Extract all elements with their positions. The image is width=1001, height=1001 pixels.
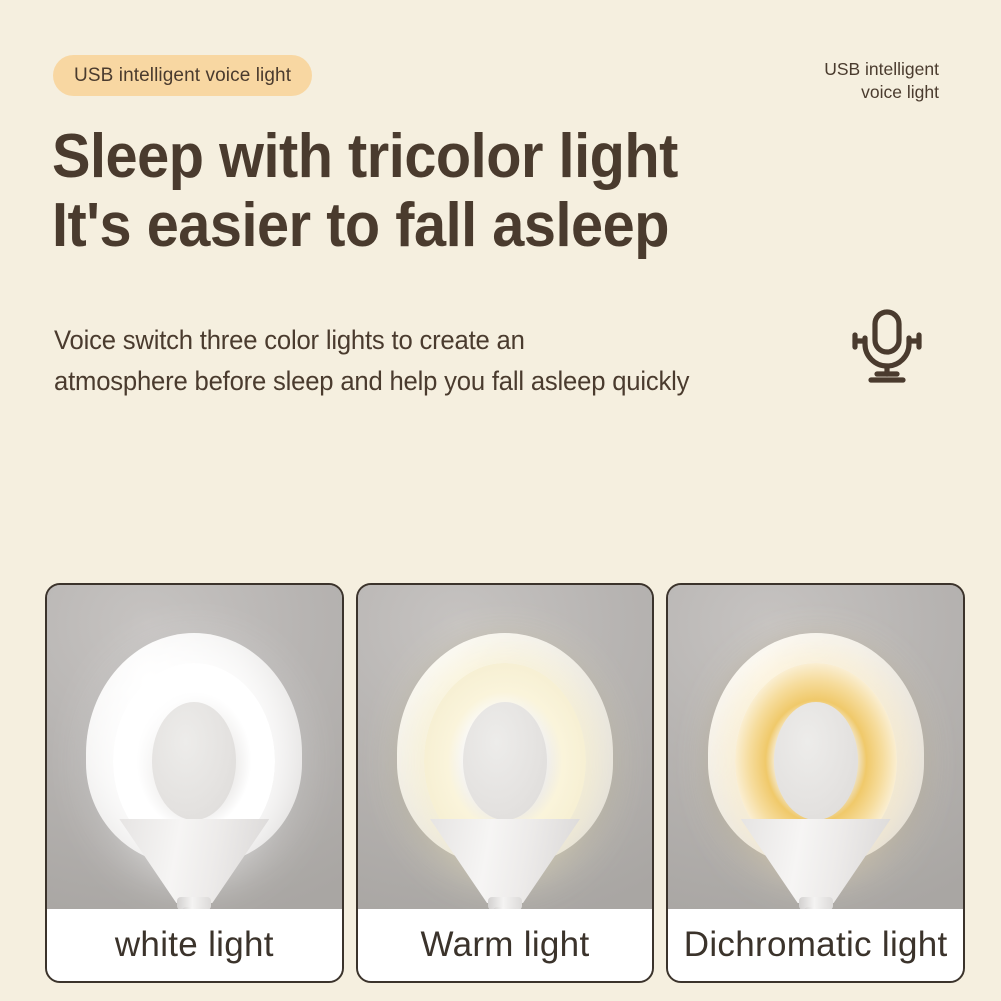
light-mode-card-white[interactable]: white light: [45, 583, 344, 983]
light-mode-card-dichromatic[interactable]: Dichromatic light: [666, 583, 965, 983]
lamp-neck: [741, 819, 891, 903]
lamp-neck: [119, 819, 269, 903]
headline-line-2: It's easier to fall asleep: [52, 191, 678, 260]
lamp-ring-inner: [152, 702, 236, 820]
product-photo-dichromatic: [668, 585, 963, 909]
subcopy: Voice switch three color lights to creat…: [54, 320, 689, 402]
ring-lamp-white-icon: [86, 633, 302, 909]
light-mode-cards: white light Warm light: [45, 583, 965, 983]
card-label-bar: white light: [47, 909, 342, 981]
headline-line-1: Sleep with tricolor light: [52, 122, 678, 191]
corner-note-line-2: voice light: [824, 81, 939, 104]
lamp-stem: [182, 907, 207, 909]
subcopy-line-1: Voice switch three color lights to creat…: [54, 320, 689, 361]
product-photo-warm: [358, 585, 653, 909]
product-category-badge: USB intelligent voice light: [53, 55, 312, 96]
corner-product-name: USB intelligent voice light: [824, 58, 939, 104]
lamp-neck: [430, 819, 580, 903]
card-label: Warm light: [421, 925, 590, 965]
product-photo-white: [47, 585, 342, 909]
microphone-icon: [851, 308, 923, 386]
lamp-ring-inner: [463, 702, 547, 820]
card-label: Dichromatic light: [684, 925, 948, 965]
lamp-ring-inner: [774, 702, 858, 820]
lamp-stem: [803, 907, 828, 909]
product-poster: USB intelligent voice light USB intellig…: [0, 0, 1001, 1001]
card-label-bar: Dichromatic light: [668, 909, 963, 981]
lamp-stem: [493, 907, 518, 909]
card-label-bar: Warm light: [358, 909, 653, 981]
light-mode-card-warm[interactable]: Warm light: [356, 583, 655, 983]
ring-lamp-dichromatic-icon: [708, 633, 924, 909]
headline: Sleep with tricolor light It's easier to…: [52, 122, 678, 261]
badge-label: USB intelligent voice light: [74, 65, 291, 87]
card-label: white light: [115, 925, 274, 965]
corner-note-line-1: USB intelligent: [824, 58, 939, 81]
ring-lamp-warm-icon: [397, 633, 613, 909]
subcopy-line-2: atmosphere before sleep and help you fal…: [54, 361, 689, 402]
